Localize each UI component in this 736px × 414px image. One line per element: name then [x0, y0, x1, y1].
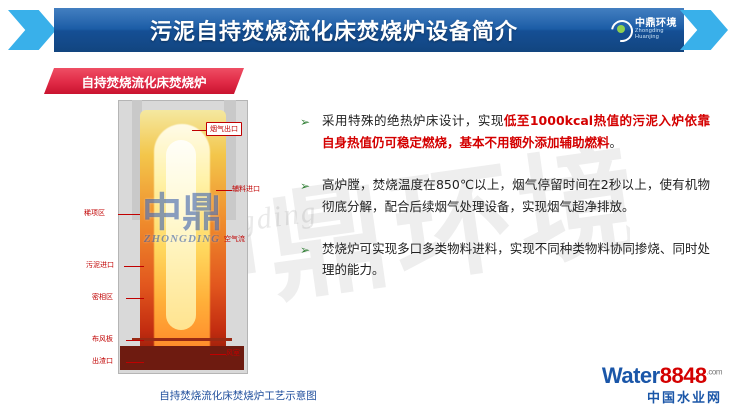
footer-brand-com: .com	[707, 368, 722, 377]
slide-header: 污泥自持焚烧流化床焚烧炉设备简介 中鼎环境 Zhongding Huanjing	[0, 8, 736, 52]
figure-watermark-cn: 中鼎	[142, 190, 222, 236]
callout-air-distributor: 布风板	[92, 334, 113, 344]
footer-brand-latin: Water8848.com	[602, 363, 722, 389]
logo-company-en: Zhongding Huanjing	[635, 29, 680, 41]
figure-watermark: 中鼎 ZHONGDING	[132, 192, 232, 302]
leader-aux-feed-inlet	[216, 190, 232, 191]
callout-aux-feed-inlet: 辅料进口	[232, 184, 260, 194]
leader-air-distributor	[126, 340, 144, 341]
leader-windbox	[210, 354, 226, 355]
bullet-list: ➢ 采用特殊的绝热炉床设计，实现低至1000kcal热值的污泥入炉依靠自身热值仍…	[300, 110, 710, 301]
bullet-marker-icon: ➢	[300, 176, 310, 197]
slide-root: 污泥自持焚烧流化床焚烧炉设备简介 中鼎环境 Zhongding Huanjing…	[0, 0, 736, 414]
distributor-plate-line	[132, 338, 232, 341]
list-item: ➢ 采用特殊的绝热炉床设计，实现低至1000kcal热值的污泥入炉依靠自身热值仍…	[300, 110, 710, 154]
furnace-diagram: 中鼎 ZHONGDING 烟气出口 辅料进口 稀项区 空气流 污泥进口 密相区 …	[84, 100, 284, 380]
chevron-left-decoration	[8, 10, 56, 50]
figure-watermark-en: ZHONGDING	[132, 234, 232, 246]
bullet-text-part: 高炉膛，焚烧温度在850℃以上，烟气停留时间在2秒以上，使有机物彻底分解，配合后…	[322, 177, 710, 214]
leader-dilute-phase-zone	[118, 214, 140, 215]
callout-dense-phase-zone: 密相区	[92, 292, 113, 302]
list-item: ➢ 焚烧炉可实现多口多类物料进料，实现不同种类物料协同掺烧、同时处理的能力。	[300, 238, 710, 282]
callout-slag-outlet: 出渣口	[92, 356, 113, 366]
bullet-text-part: 。	[610, 135, 623, 150]
bullet-marker-icon: ➢	[300, 112, 310, 133]
page-title: 污泥自持焚烧流化床焚烧炉设备简介	[54, 8, 614, 52]
company-logo: 中鼎环境 Zhongding Huanjing	[610, 14, 680, 46]
footer-brand-word: Water	[602, 363, 660, 388]
chevron-right-decoration	[680, 10, 728, 50]
callout-flue-gas-outlet: 烟气出口	[206, 122, 242, 136]
section-ribbon-label: 自持焚烧流化床焚烧炉	[44, 68, 244, 94]
footer-brand-number: 8848	[660, 363, 707, 388]
leader-flue-gas-outlet	[192, 130, 206, 131]
logo-mark-icon	[610, 19, 632, 41]
leader-dense-phase-zone	[126, 298, 144, 299]
figure-caption: 自持焚烧流化床焚烧炉工艺示意图	[118, 388, 358, 403]
bullet-marker-icon: ➢	[300, 240, 310, 261]
bullet-text-part: 采用特殊的绝热炉床设计，实现	[322, 113, 504, 128]
footer-brand: Water8848.com 中国水业网	[602, 363, 722, 406]
leader-sludge-inlet	[124, 266, 144, 267]
callout-sludge-inlet: 污泥进口	[86, 260, 114, 270]
list-item: ➢ 高炉膛，焚烧温度在850℃以上，烟气停留时间在2秒以上，使有机物彻底分解，配…	[300, 174, 710, 218]
callout-windbox: 风室	[226, 348, 240, 358]
bullet-text-part: 焚烧炉可实现多口多类物料进料，实现不同种类物料协同掺烧、同时处理的能力。	[322, 241, 710, 278]
callout-dilute-phase-zone: 稀项区	[84, 208, 105, 218]
callout-air-flow: 空气流	[224, 234, 245, 244]
footer-brand-cn: 中国水业网	[602, 387, 722, 406]
leader-slag-outlet	[126, 362, 144, 363]
